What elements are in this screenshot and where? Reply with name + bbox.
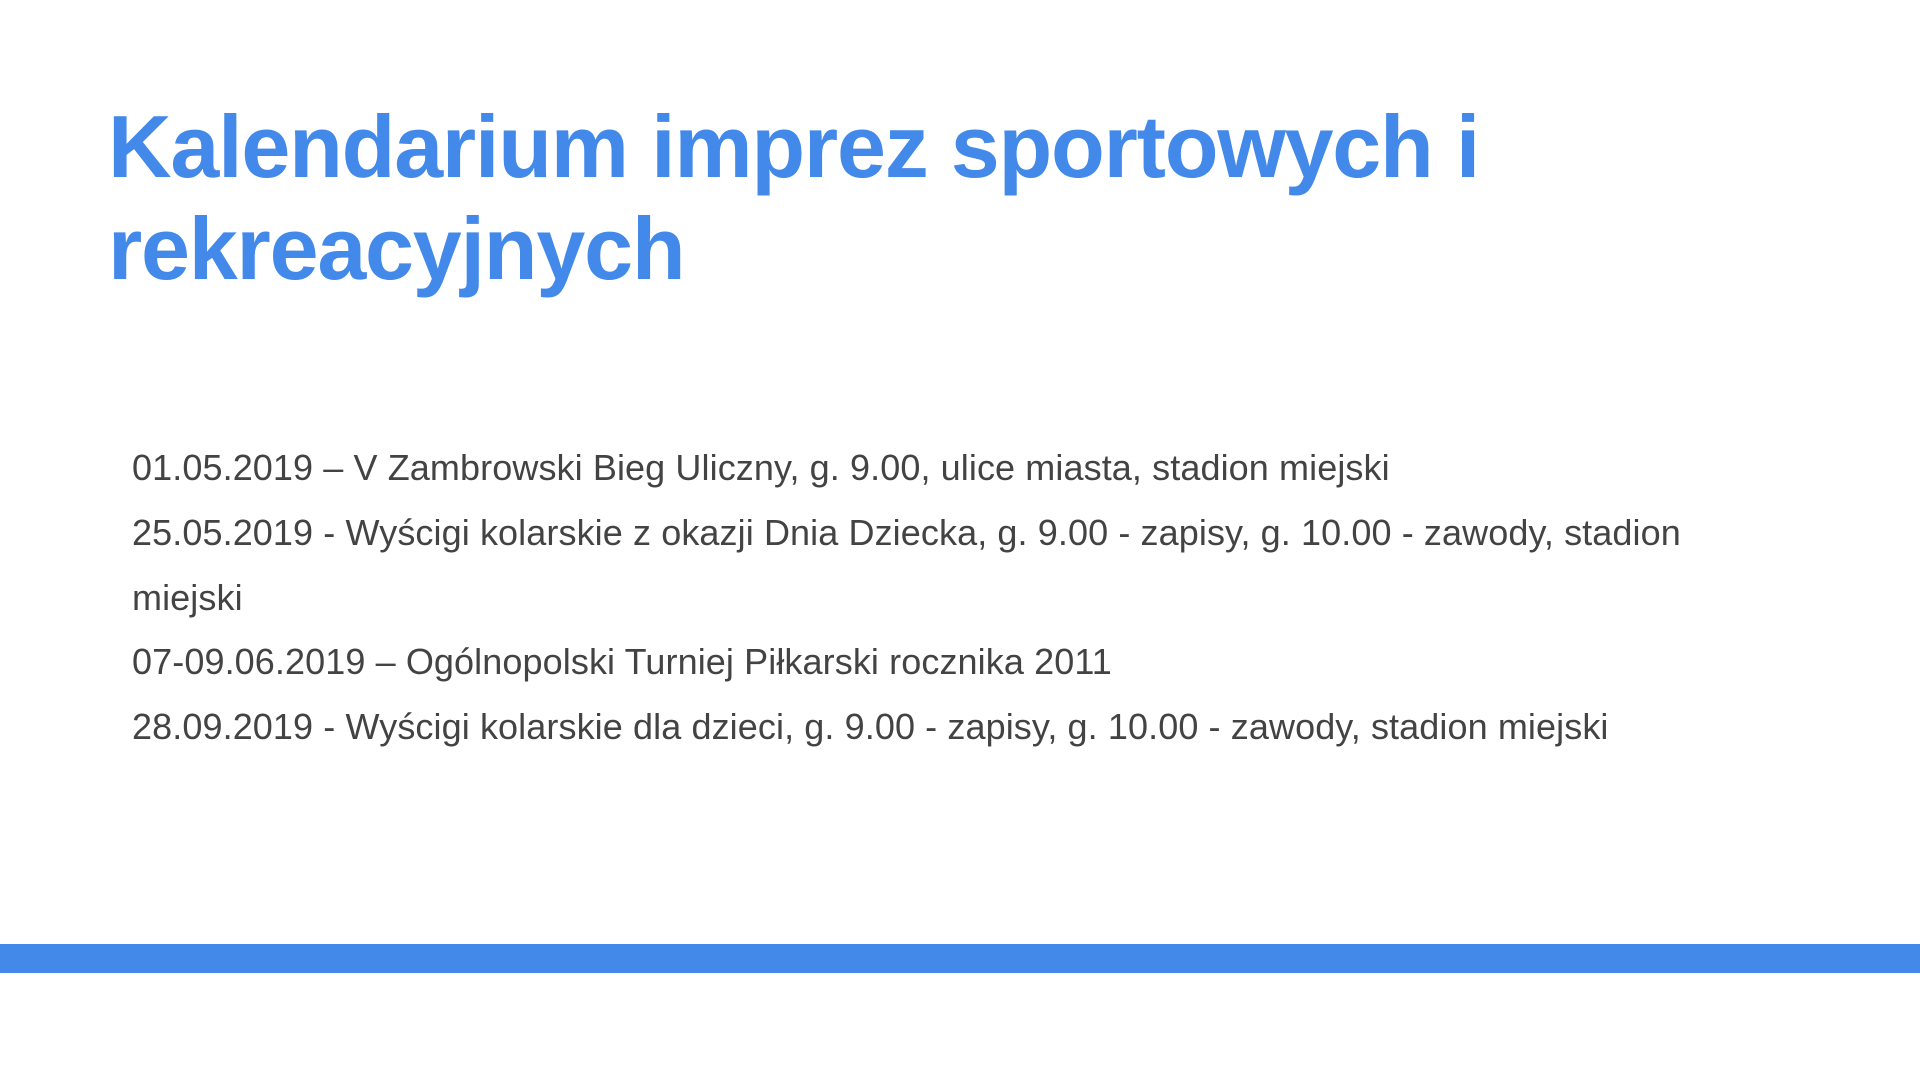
list-item: 28.09.2019 - Wyścigi kolarskie dla dziec… (132, 695, 1772, 760)
title-block: Kalendarium imprez sportowych i rekreacy… (108, 96, 1808, 300)
page-title: Kalendarium imprez sportowych i rekreacy… (108, 96, 1808, 300)
presentation-slide: Kalendarium imprez sportowych i rekreacy… (0, 0, 1920, 1080)
bottom-accent-bar (0, 944, 1920, 973)
event-list: 01.05.2019 – V Zambrowski Bieg Uliczny, … (132, 436, 1772, 760)
list-item: 01.05.2019 – V Zambrowski Bieg Uliczny, … (132, 436, 1772, 501)
list-item: 07-09.06.2019 – Ogólnopolski Turniej Pił… (132, 630, 1772, 695)
list-item: 25.05.2019 - Wyścigi kolarskie z okazji … (132, 501, 1772, 631)
